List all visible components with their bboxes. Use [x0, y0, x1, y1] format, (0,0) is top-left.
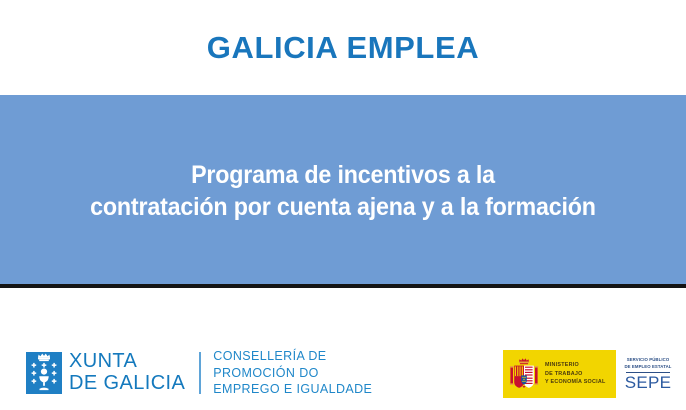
- ministerio-line-1: MINISTERIO: [545, 361, 606, 369]
- banner-subtitle-line-2: contratación por cuenta ajena y a la for…: [45, 191, 640, 223]
- xunta-wordmark-line-1: XUNTA: [69, 351, 185, 373]
- xunta-de-galicia-logo: XUNTA DE GALICIA CONSELLERÍA DE PROMOCIÓ…: [26, 348, 372, 398]
- footer-logo-bar: XUNTA DE GALICIA CONSELLERÍA DE PROMOCIÓ…: [0, 288, 686, 410]
- banner-subtitle: Programa de incentivos a la contratación…: [45, 159, 640, 223]
- banner-subtitle-line-1: Programa de incentivos a la: [45, 159, 640, 191]
- ministerio-trabajo-logo: MINISTERIO DE TRABAJO Y ECONOMÍA SOCIAL: [503, 350, 616, 398]
- xunta-wordmark-line-2: DE GALICIA: [69, 373, 185, 395]
- xunta-chalice-emblem-icon: [26, 352, 62, 394]
- program-banner: Programa de incentivos a la contratación…: [0, 95, 686, 284]
- consellaria-line-3: EMPREGO E IGUALDADE: [213, 381, 372, 398]
- consellaria-line-1: CONSELLERÍA DE: [213, 348, 372, 365]
- sepe-wordmark: SEPE: [625, 374, 672, 391]
- spain-coat-of-arms-icon: [509, 356, 539, 392]
- title-area: GALICIA EMPLEA: [0, 0, 686, 95]
- ministerio-name: MINISTERIO DE TRABAJO Y ECONOMÍA SOCIAL: [545, 361, 606, 386]
- ministerio-line-3: Y ECONOMÍA SOCIAL: [545, 378, 606, 386]
- page-title: GALICIA EMPLEA: [207, 32, 479, 63]
- xunta-wordmark: XUNTA DE GALICIA: [69, 351, 185, 394]
- consellaria-name: CONSELLERÍA DE PROMOCIÓN DO EMPREGO E IG…: [213, 348, 372, 398]
- sepe-logo: SERVICIO PÚBLICO DE EMPLEO ESTATAL SEPE: [616, 350, 680, 398]
- sepe-tagline-line-1: SERVICIO PÚBLICO: [624, 357, 671, 363]
- ministerio-line-2: DE TRABAJO: [545, 370, 606, 378]
- sepe-tagline: SERVICIO PÚBLICO DE EMPLEO ESTATAL: [624, 357, 671, 370]
- sepe-tagline-line-2: DE EMPLEO ESTATAL: [624, 364, 671, 370]
- logo-vertical-divider: [199, 352, 201, 394]
- government-logo-lockup: MINISTERIO DE TRABAJO Y ECONOMÍA SOCIAL …: [503, 350, 680, 398]
- consellaria-line-2: PROMOCIÓN DO: [213, 365, 372, 382]
